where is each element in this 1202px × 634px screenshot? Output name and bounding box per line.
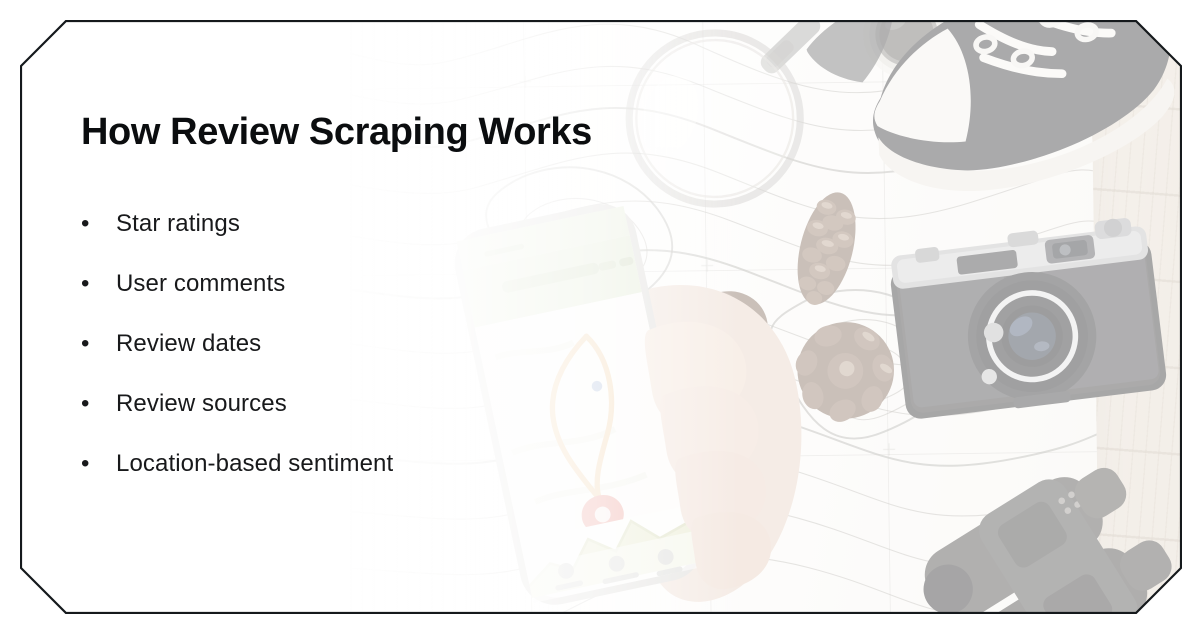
list-item-label: User comments — [116, 270, 285, 299]
list-item-label: Review dates — [116, 330, 261, 359]
list-item: • Review dates — [81, 330, 393, 390]
feature-bullet-list: • Star ratings • User comments • Review … — [81, 210, 393, 510]
bullet-marker-icon: • — [81, 212, 116, 236]
list-item-label: Review sources — [116, 390, 287, 419]
list-item: • Location-based sentiment — [81, 450, 393, 510]
bullet-marker-icon: • — [81, 272, 116, 296]
bullet-marker-icon: • — [81, 332, 116, 356]
list-item-label: Star ratings — [116, 210, 240, 239]
bullet-marker-icon: • — [81, 392, 116, 416]
bullet-marker-icon: • — [81, 452, 116, 476]
list-item: • Star ratings — [81, 210, 393, 270]
page-title: How Review Scraping Works — [81, 110, 592, 155]
slide-card: How Review Scraping Works • Star ratings… — [20, 20, 1182, 614]
text-content: How Review Scraping Works • Star ratings… — [20, 20, 640, 614]
list-item: • Review sources — [81, 390, 393, 450]
vintage-film-camera — [866, 169, 1182, 458]
list-item-label: Location-based sentiment — [116, 450, 393, 479]
list-item: • User comments — [81, 270, 393, 330]
